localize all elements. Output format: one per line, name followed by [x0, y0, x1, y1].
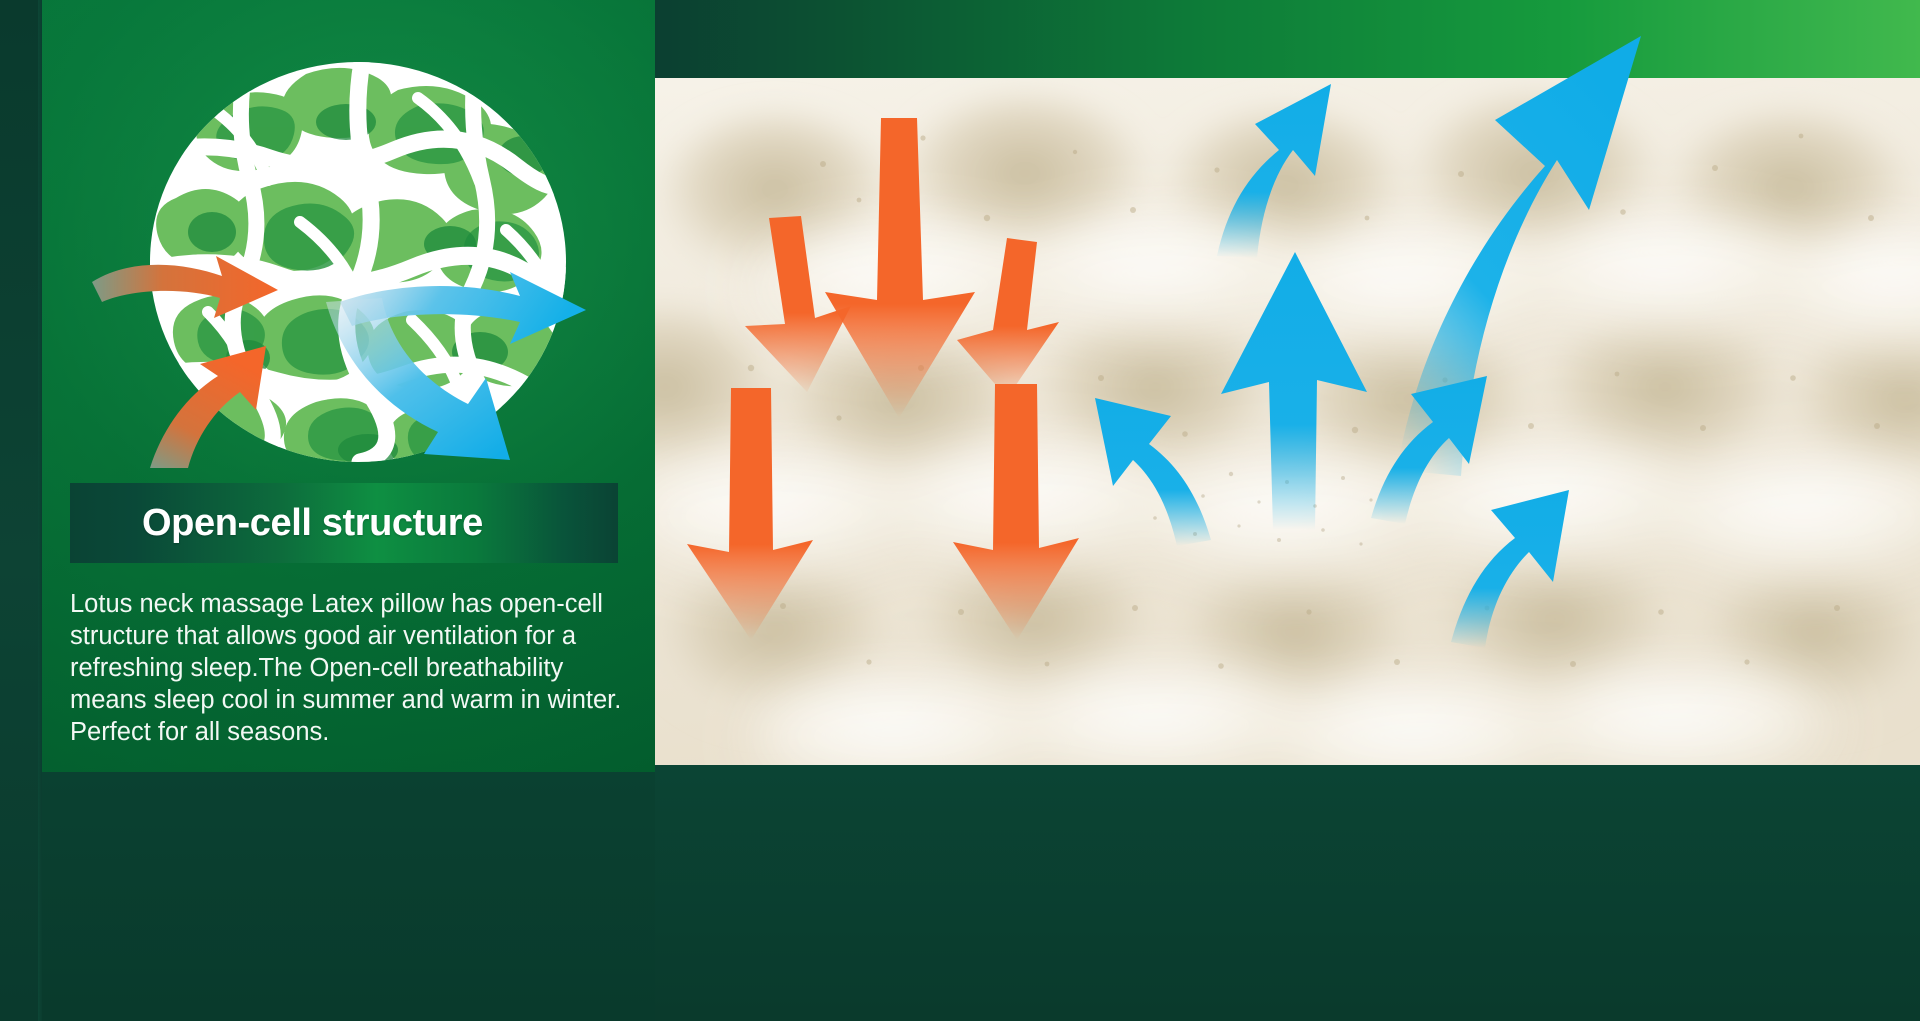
left-edge-rail [0, 0, 42, 1021]
infographic-canvas: Open-cell structure Lotus neck massage L… [0, 0, 1920, 1021]
panel-description: Lotus neck massage Latex pillow has open… [70, 588, 630, 748]
open-cell-diagram-icon [150, 62, 566, 462]
section-title-bar: Open-cell structure [70, 483, 618, 563]
latex-foam-photo [655, 78, 1920, 765]
bottom-green-band [655, 765, 1920, 1021]
left-panel-footer-band [42, 772, 655, 1021]
foam-photo-panel [655, 0, 1920, 1021]
top-green-band [655, 0, 1920, 78]
page-title: Open-cell structure [70, 502, 483, 545]
